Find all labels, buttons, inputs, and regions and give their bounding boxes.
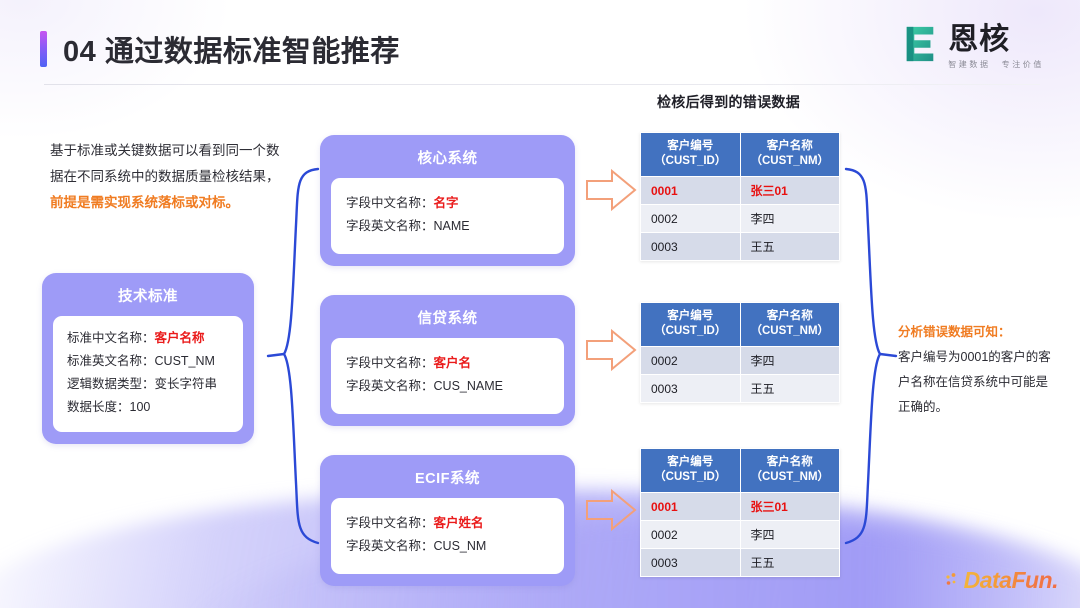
standard-field-value: 100 [130, 400, 151, 414]
standard-field-label: 逻辑数据类型： [67, 377, 155, 391]
column-header-cust-nm: 客户名称 （CUST_NM） [740, 449, 840, 493]
right-block-arrow-icon [585, 168, 637, 212]
system-field-en-label: 字段英文名称： [346, 219, 434, 233]
right-curly-brace-icon [840, 165, 902, 547]
system-field-cn-label: 字段中文名称： [346, 356, 434, 370]
system-field-cn-value: 客户名 [434, 356, 472, 370]
system-field-en-label: 字段英文名称： [346, 379, 434, 393]
system-card-credit: 信贷系统 字段中文名称：客户名 字段英文名称：CUS_NAME [320, 295, 575, 426]
left-curly-brace-icon [262, 165, 324, 547]
standard-field-value: 变长字符串 [155, 377, 218, 391]
header-divider [44, 84, 1040, 85]
datafun-wordmark: DataFun. [964, 567, 1058, 594]
system-field-cn-row: 字段中文名称：客户姓名 [346, 512, 549, 535]
cell-cust-nm: 李四 [740, 205, 840, 233]
table-row: 0003 王五 [641, 375, 840, 403]
standard-field-value: CUST_NM [155, 354, 215, 368]
cell-cust-nm: 张三01 [740, 493, 840, 521]
column-header-line1: 客户编号 [643, 455, 738, 470]
column-header-line2: （CUST_ID） [643, 470, 738, 485]
brand-name: 恩核 [948, 24, 1044, 56]
table-row: 0002 李四 [641, 347, 840, 375]
system-card-body: 字段中文名称：客户名 字段英文名称：CUS_NAME [331, 338, 564, 414]
brand-tagline-left: 智建数据 [948, 59, 990, 70]
error-data-table-core: 客户编号 （CUST_ID） 客户名称 （CUST_NM） 0001 张三01 … [640, 132, 840, 261]
system-field-cn-value: 名字 [434, 196, 459, 210]
datafun-watermark: DataFun. [945, 567, 1058, 594]
table-row: 0003 王五 [641, 233, 840, 261]
cell-cust-id: 0001 [641, 493, 741, 521]
column-header-cust-nm: 客户名称 （CUST_NM） [740, 303, 840, 347]
brand-logo: 恩核 智建数据 专注价值 [901, 24, 1044, 70]
system-card-title: ECIF系统 [320, 455, 575, 498]
system-card-ecif: ECIF系统 字段中文名称：客户姓名 字段英文名称：CUS_NM [320, 455, 575, 586]
system-field-en-row: 字段英文名称：CUS_NM [346, 535, 549, 558]
brand-text: 恩核 智建数据 专注价值 [948, 24, 1044, 70]
standard-field-row: 逻辑数据类型：变长字符串 [67, 373, 229, 396]
page-title: 04 通过数据标准智能推荐 [63, 28, 400, 70]
enhe-logo-icon [901, 24, 939, 64]
slide-canvas: 04 通过数据标准智能推荐 恩核 智建数据 专注价值 基于标准或关键数据可以看到… [0, 0, 1080, 608]
page-title-row: 04 通过数据标准智能推荐 [40, 28, 400, 70]
cell-cust-id: 0003 [641, 375, 741, 403]
cell-cust-nm: 张三01 [740, 177, 840, 205]
table-header-row: 客户编号 （CUST_ID） 客户名称 （CUST_NM） [641, 133, 840, 177]
analysis-note-body: 客户编号为0001的客户的客户名称在信贷系统中可能是正确的。 [898, 345, 1058, 420]
cell-cust-id: 0003 [641, 233, 741, 261]
table-row: 0003 王五 [641, 549, 840, 577]
system-card-title: 信贷系统 [320, 295, 575, 338]
cell-cust-id: 0001 [641, 177, 741, 205]
standard-field-label: 标准中文名称： [67, 331, 155, 345]
system-card-body: 字段中文名称：名字 字段英文名称：NAME [331, 178, 564, 254]
cell-cust-id: 0002 [641, 205, 741, 233]
datafun-dots-icon [945, 571, 961, 591]
system-card-core: 核心系统 字段中文名称：名字 字段英文名称：NAME [320, 135, 575, 266]
system-field-en-row: 字段英文名称：NAME [346, 215, 549, 238]
column-header-cust-id: 客户编号 （CUST_ID） [641, 449, 741, 493]
system-field-en-value: NAME [434, 219, 470, 233]
column-header-cust-nm: 客户名称 （CUST_NM） [740, 133, 840, 177]
cell-cust-nm: 王五 [740, 549, 840, 577]
right-block-arrow-icon [585, 488, 637, 532]
analysis-note: 分析错误数据可知： 客户编号为0001的客户的客户名称在信贷系统中可能是正确的。 [898, 320, 1058, 420]
cell-cust-nm: 王五 [740, 233, 840, 261]
error-data-table-credit: 客户编号 （CUST_ID） 客户名称 （CUST_NM） 0002 李四 00… [640, 302, 840, 403]
standard-field-row: 标准中文名称：客户名称 [67, 327, 229, 350]
system-card-title: 核心系统 [320, 135, 575, 178]
cell-cust-nm: 李四 [740, 347, 840, 375]
description-highlight: 前提是需实现系统落标或对标。 [50, 195, 239, 210]
standard-field-row: 标准英文名称：CUST_NM [67, 350, 229, 373]
column-header-line2: （CUST_ID） [643, 324, 738, 339]
right-block-arrow-icon [585, 328, 637, 372]
column-header-line1: 客户编号 [643, 309, 738, 324]
tables-caption: 检核后得到的错误数据 [657, 92, 800, 112]
analysis-note-heading: 分析错误数据可知： [898, 320, 1058, 345]
standard-field-row: 数据长度：100 [67, 396, 229, 419]
table-header-row: 客户编号 （CUST_ID） 客户名称 （CUST_NM） [641, 303, 840, 347]
column-header-cust-id: 客户编号 （CUST_ID） [641, 133, 741, 177]
standard-field-value: 客户名称 [155, 331, 205, 345]
system-field-cn-row: 字段中文名称：客户名 [346, 352, 549, 375]
column-header-line1: 客户名称 [743, 139, 838, 154]
system-field-cn-value: 客户姓名 [434, 516, 484, 530]
cell-cust-id: 0002 [641, 347, 741, 375]
column-header-line2: （CUST_NM） [743, 470, 838, 485]
system-field-en-row: 字段英文名称：CUS_NAME [346, 375, 549, 398]
brand-tagline-right: 专注价值 [1002, 59, 1044, 70]
table-header-row: 客户编号 （CUST_ID） 客户名称 （CUST_NM） [641, 449, 840, 493]
table-row: 0001 张三01 [641, 177, 840, 205]
technical-standard-card: 技术标准 标准中文名称：客户名称 标准英文名称：CUST_NM 逻辑数据类型：变… [42, 273, 254, 444]
standard-field-label: 标准英文名称： [67, 354, 155, 368]
table-row: 0002 李四 [641, 205, 840, 233]
title-accent-bar [40, 31, 47, 67]
cell-cust-id: 0002 [641, 521, 741, 549]
technical-standard-card-body: 标准中文名称：客户名称 标准英文名称：CUST_NM 逻辑数据类型：变长字符串 … [53, 316, 243, 432]
system-field-en-value: CUS_NM [434, 539, 487, 553]
standard-field-label: 数据长度： [67, 400, 130, 414]
column-header-line1: 客户编号 [643, 139, 738, 154]
description-plain: 基于标准或关键数据可以看到同一个数据在不同系统中的数据质量检核结果， [50, 143, 280, 184]
cell-cust-nm: 李四 [740, 521, 840, 549]
column-header-line1: 客户名称 [743, 455, 838, 470]
system-field-cn-label: 字段中文名称： [346, 516, 434, 530]
system-card-body: 字段中文名称：客户姓名 字段英文名称：CUS_NM [331, 498, 564, 574]
description-text: 基于标准或关键数据可以看到同一个数据在不同系统中的数据质量检核结果，前提是需实现… [50, 138, 282, 216]
system-field-en-label: 字段英文名称： [346, 539, 434, 553]
brand-tagline: 智建数据 专注价值 [948, 59, 1044, 70]
column-header-line1: 客户名称 [743, 309, 838, 324]
error-data-table-ecif: 客户编号 （CUST_ID） 客户名称 （CUST_NM） 0001 张三01 … [640, 448, 840, 577]
system-field-cn-row: 字段中文名称：名字 [346, 192, 549, 215]
table-row: 0002 李四 [641, 521, 840, 549]
system-field-en-value: CUS_NAME [434, 379, 503, 393]
column-header-line2: （CUST_NM） [743, 154, 838, 169]
table-row: 0001 张三01 [641, 493, 840, 521]
column-header-line2: （CUST_ID） [643, 154, 738, 169]
system-field-cn-label: 字段中文名称： [346, 196, 434, 210]
technical-standard-card-title: 技术标准 [42, 273, 254, 316]
cell-cust-id: 0003 [641, 549, 741, 577]
column-header-cust-id: 客户编号 （CUST_ID） [641, 303, 741, 347]
column-header-line2: （CUST_NM） [743, 324, 838, 339]
cell-cust-nm: 王五 [740, 375, 840, 403]
